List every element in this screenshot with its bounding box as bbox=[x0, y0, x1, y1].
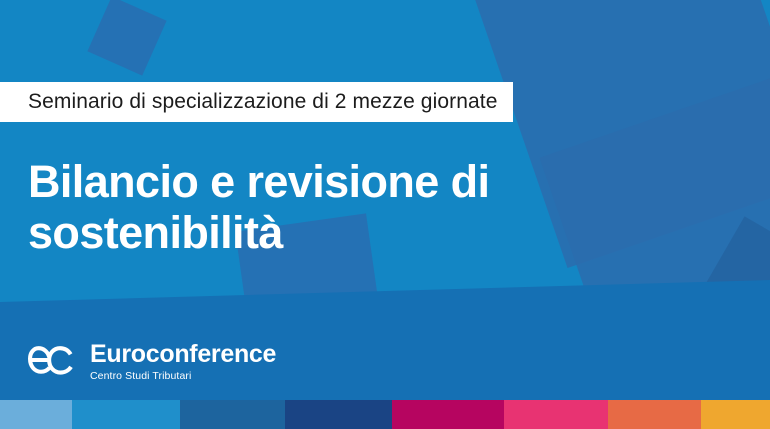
decorative-square-small bbox=[87, 0, 166, 76]
color-strip-segment-medium-blue bbox=[180, 400, 285, 429]
color-strip-segment-magenta bbox=[392, 400, 504, 429]
promo-banner: Seminario di specializzazione di 2 mezze… bbox=[0, 0, 770, 429]
color-strip-segment-amber bbox=[701, 400, 770, 429]
color-strip-segment-azure bbox=[72, 400, 180, 429]
page-title: Bilancio e revisione di sostenibilità bbox=[28, 157, 588, 258]
color-strip-segment-navy bbox=[285, 400, 392, 429]
color-strip-segment-light-blue bbox=[0, 400, 72, 429]
brand-tagline: Centro Studi Tributari bbox=[90, 371, 276, 382]
color-strip-segment-orange bbox=[608, 400, 701, 429]
brand-logo: Euroconference Centro Studi Tributari bbox=[28, 342, 276, 382]
color-strip-segment-pink bbox=[504, 400, 609, 429]
color-strip bbox=[0, 400, 770, 429]
brand-logo-text: Euroconference Centro Studi Tributari bbox=[90, 342, 276, 382]
ec-monogram-icon bbox=[28, 342, 80, 382]
brand-name: Euroconference bbox=[90, 342, 276, 367]
kicker-label: Seminario di specializzazione di 2 mezze… bbox=[0, 82, 513, 122]
